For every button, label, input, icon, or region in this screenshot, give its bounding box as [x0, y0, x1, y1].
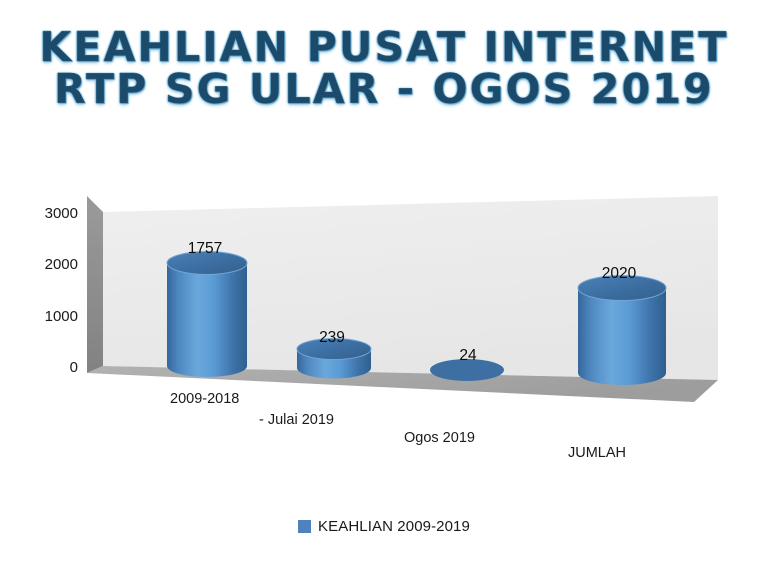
category-label-2009-2018: 2009-2018 — [170, 391, 239, 407]
y-tick-label-3000: 3000 — [45, 205, 78, 222]
category-label-julai-2019: - Julai 2019 — [259, 412, 334, 428]
bar-body-4 — [578, 288, 666, 385]
bar-2009-2018[interactable]: 1757 — [167, 240, 247, 377]
slide-canvas: KEAHLIAN PUSAT INTERNET RTP SG ULAR - OG… — [0, 0, 768, 576]
bar-value-label-3: 24 — [459, 347, 477, 364]
bar-value-label-4: 2020 — [602, 265, 637, 282]
category-label-ogos-2019: Ogos 2019 — [404, 430, 475, 446]
chart-title: KEAHLIAN PUSAT INTERNET RTP SG ULAR - OG… — [0, 26, 768, 110]
bar-body-1 — [167, 263, 247, 377]
chart-title-line-1: KEAHLIAN PUSAT INTERNET — [0, 26, 768, 68]
y-tick-label-2000: 2000 — [45, 256, 78, 273]
chart-plot-area: 3000 2000 1000 0 1757 239 24 — [0, 170, 768, 500]
legend-swatch-icon — [298, 520, 311, 533]
legend-series-label: KEAHLIAN 2009-2019 — [318, 518, 470, 535]
category-label-jumlah: JUMLAH — [568, 445, 626, 461]
bar-value-label-1: 1757 — [188, 240, 222, 257]
y-tick-label-0: 0 — [70, 359, 78, 376]
y-tick-label-1000: 1000 — [45, 308, 78, 325]
chart-side-wall — [87, 196, 103, 373]
bar-jumlah[interactable]: 2020 — [578, 265, 666, 385]
chart-title-line-2: RTP SG ULAR - OGOS 2019 — [0, 68, 768, 110]
bar-value-label-2: 239 — [319, 329, 345, 346]
chart-legend: KEAHLIAN 2009-2019 — [0, 518, 768, 535]
